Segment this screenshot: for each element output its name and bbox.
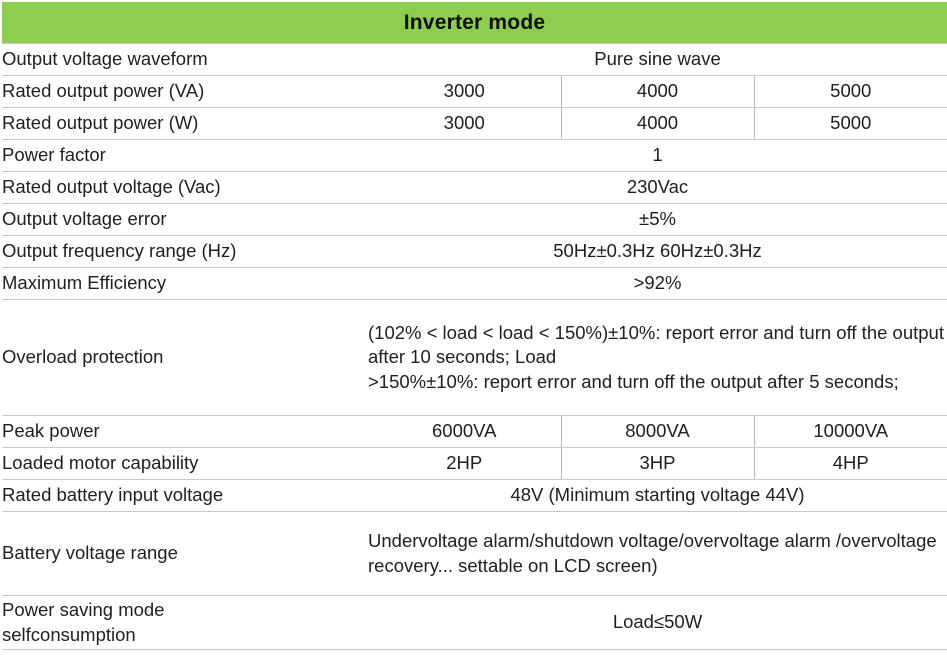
- page-title: Inverter mode: [404, 12, 545, 33]
- table-row: Rated output power (VA)300040005000: [2, 76, 947, 108]
- row-label-cell: Rated output power (W): [2, 108, 368, 140]
- row-value-cell-1: 3000: [368, 108, 561, 140]
- table-row: Overload protection(102% < load < load <…: [2, 300, 947, 416]
- table-row: Loaded motor capability2HP3HP4HP: [2, 448, 947, 480]
- inverter-mode-spec-sheet: Inverter mode Output voltage waveformPur…: [0, 0, 947, 655]
- table-row: Power factor1: [2, 140, 947, 172]
- row-value-cell-3: 4HP: [754, 448, 947, 480]
- table-row: Peak power6000VA8000VA10000VA: [2, 416, 947, 448]
- row-label-cell: Rated output voltage (Vac): [2, 172, 368, 204]
- row-value-cell: (102% < load < load < 150%)±10%: report …: [368, 300, 947, 416]
- row-label-cell: Peak power: [2, 416, 368, 448]
- table-body: Output voltage waveformPure sine waveRat…: [2, 44, 947, 650]
- table-title-bar: Inverter mode: [2, 2, 947, 43]
- row-value-cell-2: 4000: [561, 108, 754, 140]
- row-value-cell-1: 2HP: [368, 448, 561, 480]
- row-value-cell: >92%: [368, 268, 947, 300]
- table-row: Output frequency range (Hz)50Hz±0.3Hz 60…: [2, 236, 947, 268]
- row-value-cell: Undervoltage alarm/shutdown voltage/over…: [368, 512, 947, 596]
- row-label-cell: Maximum Efficiency: [2, 268, 368, 300]
- row-label-cell: Power factor: [2, 140, 368, 172]
- row-label-cell: Rated battery input voltage: [2, 480, 368, 512]
- row-label-cell: Rated output power (VA): [2, 76, 368, 108]
- table-row: Rated battery input voltage48V (Minimum …: [2, 480, 947, 512]
- row-label-cell: Loaded motor capability: [2, 448, 368, 480]
- row-label-cell: Output voltage error: [2, 204, 368, 236]
- row-label-cell: Output frequency range (Hz): [2, 236, 368, 268]
- table-row: Maximum Efficiency>92%: [2, 268, 947, 300]
- table-row: Rated output voltage (Vac)230Vac: [2, 172, 947, 204]
- row-value-cell-3: 5000: [754, 108, 947, 140]
- row-value-cell: 48V (Minimum starting voltage 44V): [368, 480, 947, 512]
- row-value-cell: Load≤50W: [368, 596, 947, 650]
- row-value-cell-2: 4000: [561, 76, 754, 108]
- row-label-cell: Battery voltage range: [2, 512, 368, 596]
- row-value-cell-2: 3HP: [561, 448, 754, 480]
- row-value-cell-1: 3000: [368, 76, 561, 108]
- table-row: Power saving mode selfconsumptionLoad≤50…: [2, 596, 947, 650]
- row-label-cell: Output voltage waveform: [2, 44, 368, 76]
- table-row: Output voltage waveformPure sine wave: [2, 44, 947, 76]
- row-value-cell: ±5%: [368, 204, 947, 236]
- row-value-cell: 230Vac: [368, 172, 947, 204]
- row-value-cell-3: 5000: [754, 76, 947, 108]
- row-label-cell: Power saving mode selfconsumption: [2, 596, 368, 650]
- row-value-cell: 50Hz±0.3Hz 60Hz±0.3Hz: [368, 236, 947, 268]
- row-value-cell: 1: [368, 140, 947, 172]
- table-row: Output voltage error±5%: [2, 204, 947, 236]
- row-value-cell-1: 6000VA: [368, 416, 561, 448]
- table-row: Battery voltage rangeUndervoltage alarm/…: [2, 512, 947, 596]
- row-value-cell-3: 10000VA: [754, 416, 947, 448]
- table-row: Rated output power (W)300040005000: [2, 108, 947, 140]
- specification-table: Output voltage waveformPure sine waveRat…: [2, 43, 947, 650]
- row-value-cell-2: 8000VA: [561, 416, 754, 448]
- row-label-cell: Overload protection: [2, 300, 368, 416]
- row-value-cell: Pure sine wave: [368, 44, 947, 76]
